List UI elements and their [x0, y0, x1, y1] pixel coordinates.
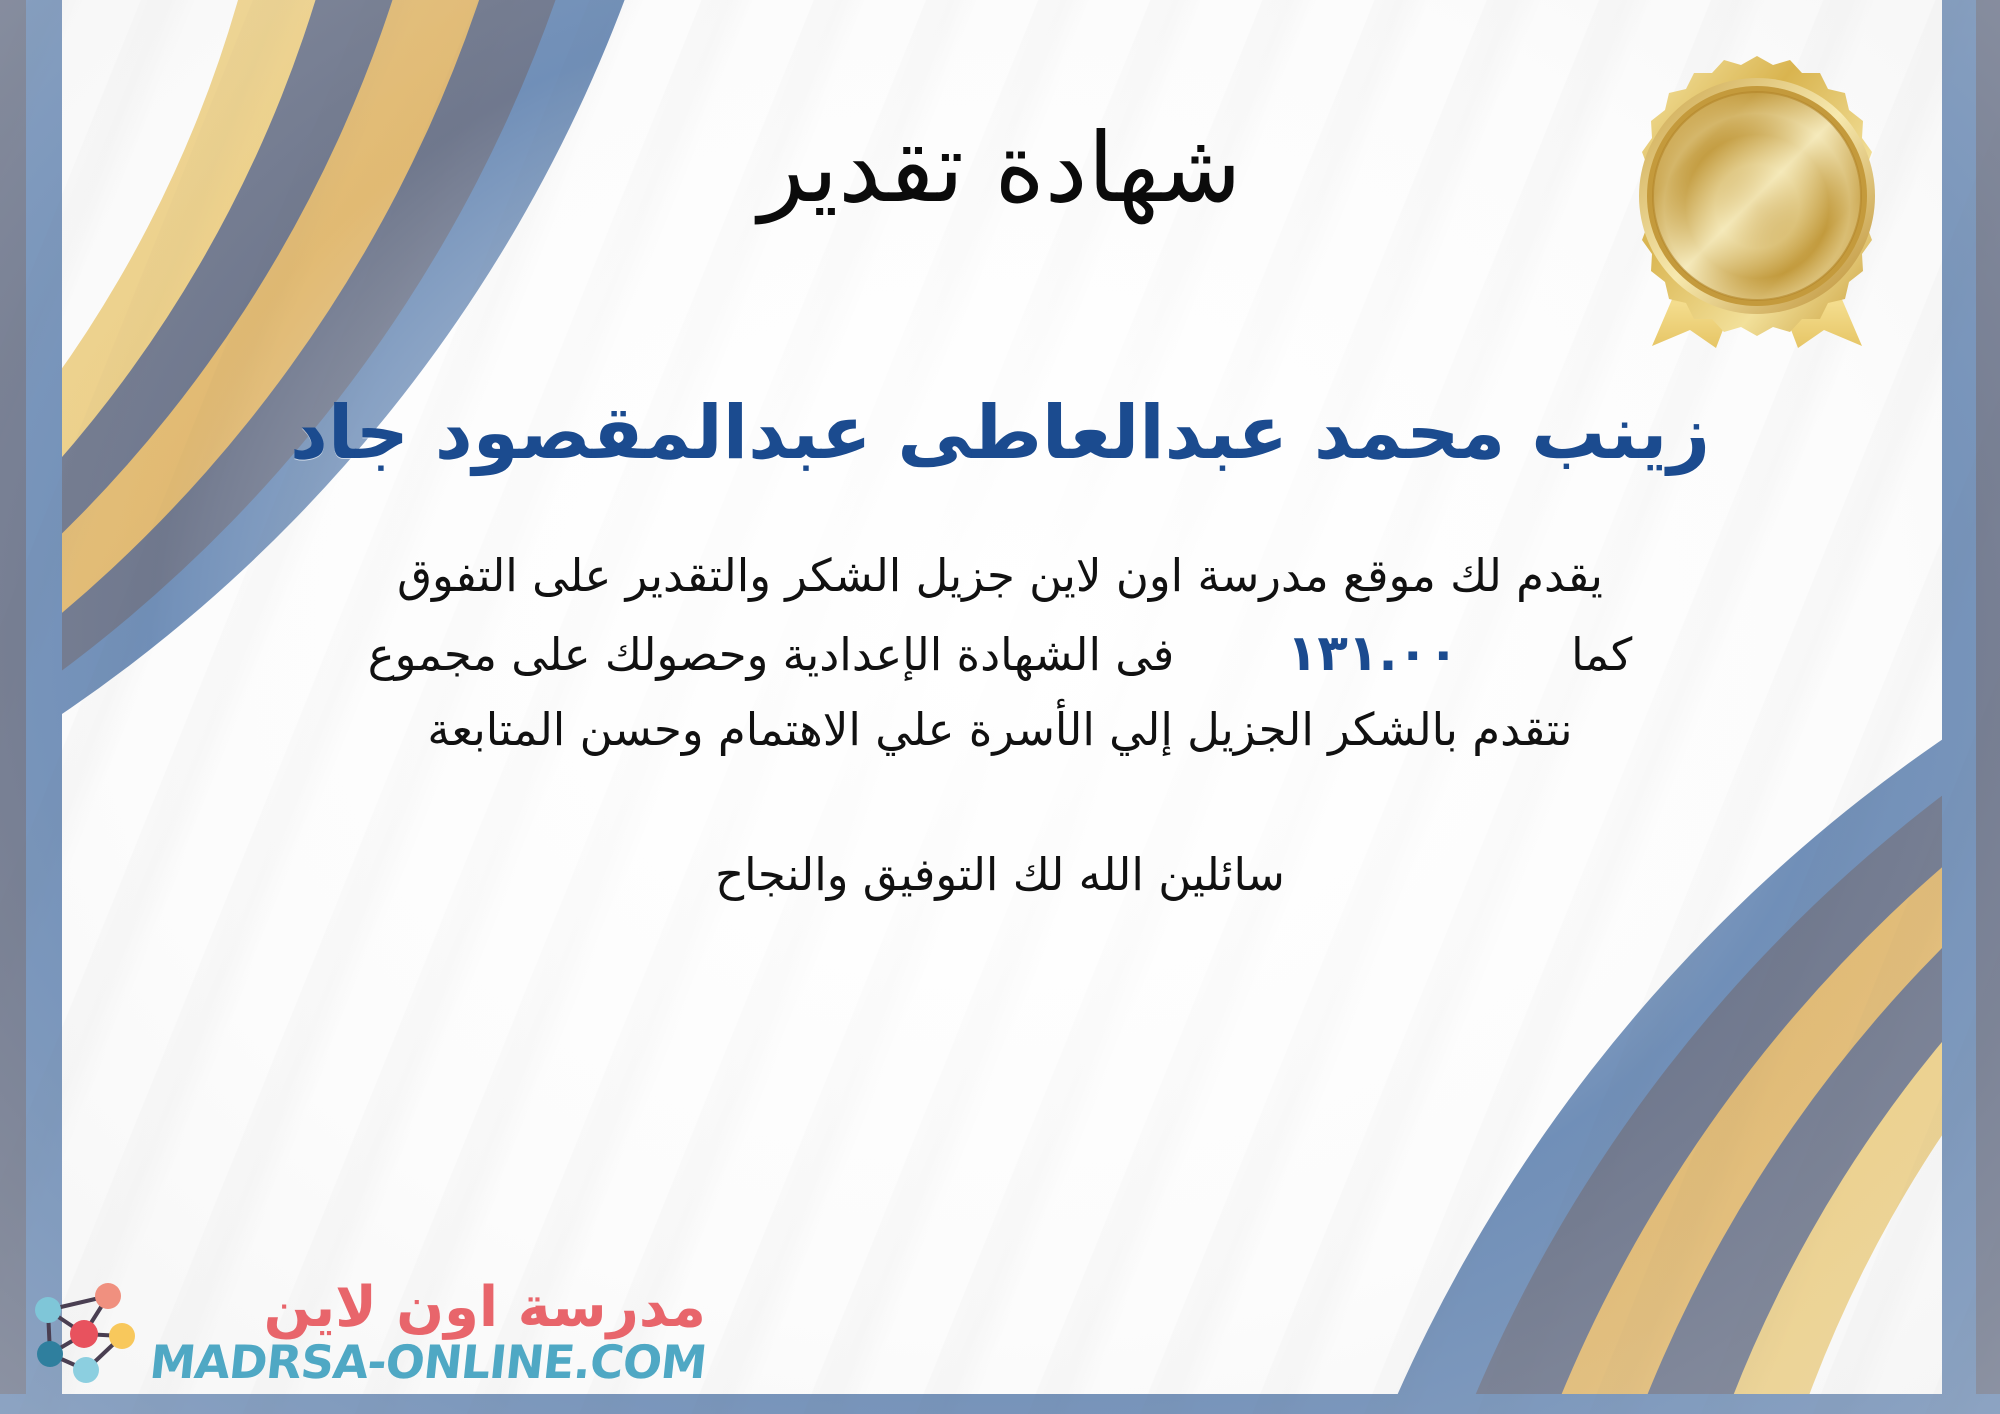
body-line-3: نتقدم بالشكر الجزيل إلي الأسرة علي الاهت… [210, 694, 1790, 767]
brand-text: مدرسة اون لاين MADRSA-ONLINE.COM [150, 1279, 706, 1386]
body-line-2-text-before: فى الشهادة الإعدادية وحصولك على مجموع [368, 628, 1175, 681]
body-line-1: يقدم لك موقع مدرسة اون لاين جزيل الشكر و… [210, 540, 1790, 613]
brand-domain: MADRSA-ONLINE.COM [147, 1338, 708, 1386]
grade-total-value: ١٣١.٠٠ [1261, 613, 1485, 694]
brand-name-arabic: مدرسة اون لاين [264, 1279, 706, 1338]
network-nodes-logo-icon [22, 1274, 140, 1392]
brand-logo[interactable]: مدرسة اون لاين MADRSA-ONLINE.COM [22, 1274, 706, 1392]
closing-line: سائلين الله لك التوفيق والنجاح [210, 841, 1790, 909]
student-name: زينب محمد عبدالعاطى عبدالمقصود جاد [120, 391, 1880, 476]
body-line-2: كما ١٣١.٠٠ فى الشهادة الإعدادية وحصولك ع… [210, 613, 1790, 694]
certificate-body: يقدم لك موقع مدرسة اون لاين جزيل الشكر و… [210, 540, 1790, 767]
certificate-title: شهادة تقدير [759, 118, 1242, 219]
certificate-page: شهادة تقدير زينب محمد عبدالعاطى عبدالمقص… [0, 0, 2000, 1414]
certificate-content: شهادة تقدير زينب محمد عبدالعاطى عبدالمقص… [0, 0, 2000, 1414]
body-line-2-text-after: كما [1571, 628, 1632, 681]
